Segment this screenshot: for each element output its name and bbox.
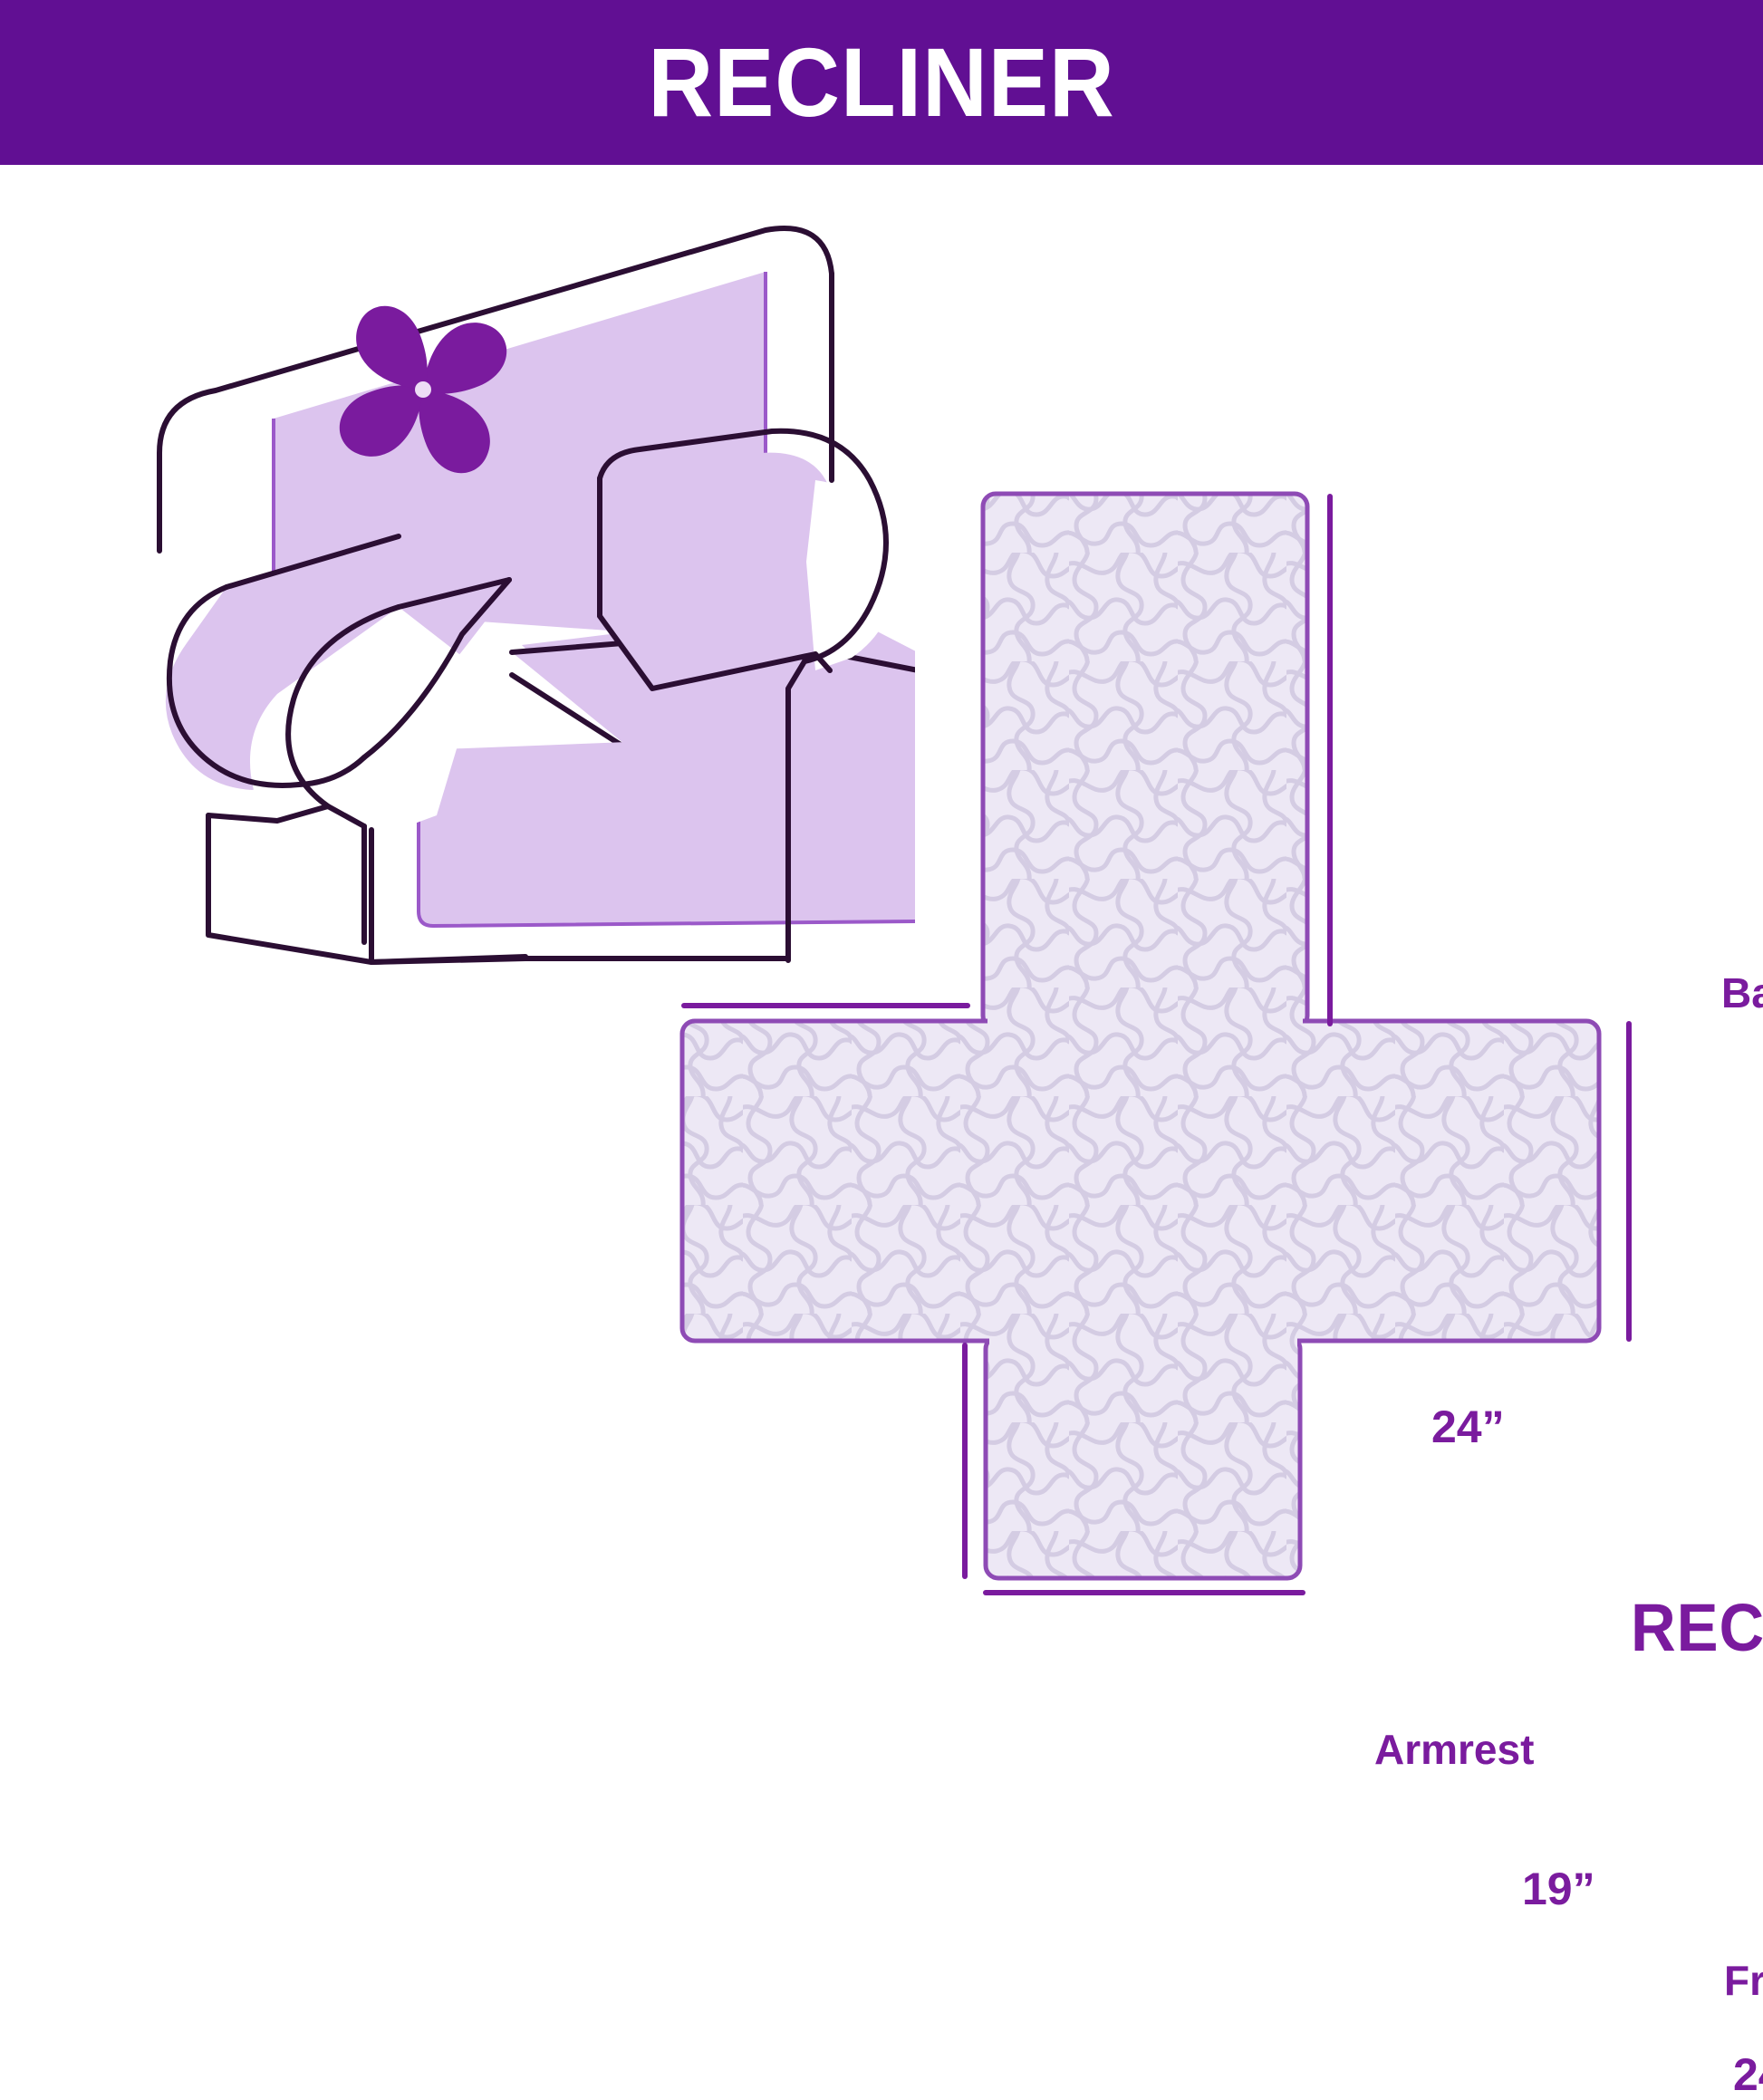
- panel-label-armrest-left: Armrest: [1374, 1729, 1534, 1770]
- dimension-back-width: 24”: [1431, 1404, 1505, 1450]
- cover-pattern-diagram: Back Armrest Armrest Front RECLINER 40” …: [634, 444, 1703, 1676]
- header-banner: RECLINER: [0, 0, 1763, 165]
- recliner-size-chart: RECLINER .ln { fill:none; stroke:#2B0E33…: [0, 0, 1763, 1763]
- pattern-center-label: RECLINER: [1631, 1594, 1763, 1662]
- panel-label-front: Front: [1724, 1960, 1763, 2001]
- dimension-front-width: 24”: [1733, 2052, 1763, 2097]
- panel-label-back: Back: [1721, 972, 1763, 1014]
- page-title: RECLINER: [648, 34, 1114, 131]
- dimension-front-height: 19”: [1522, 1866, 1595, 1912]
